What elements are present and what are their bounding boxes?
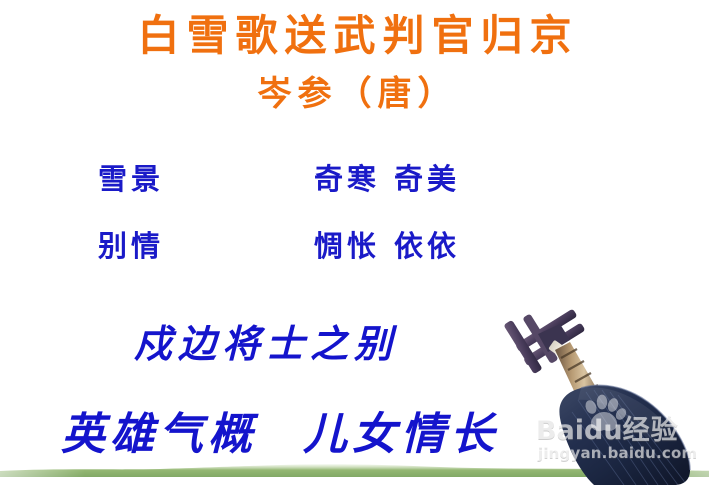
analysis-row-1-descriptor-first: 惆怅 — [314, 229, 380, 263]
watermark-brand-cn: 经验 — [623, 415, 679, 446]
pipa-head-plate — [538, 324, 570, 352]
pipa-strings — [572, 387, 687, 485]
analysis-row-0-topic: 雪景 — [94, 158, 164, 200]
analysis-row: 雪景 奇寒奇美 — [0, 158, 709, 200]
grass-band-decoration — [0, 461, 709, 477]
grass-shape — [0, 464, 709, 477]
watermark-brand-latin: Baidu — [536, 415, 623, 446]
baidu-watermark: Baidu经验 jingyan.baidu.com — [536, 408, 709, 468]
analysis-row-0-descriptors: 奇寒奇美 — [310, 158, 460, 200]
emphasis-pair-right: 儿女情长 — [303, 409, 499, 460]
grass-edge-fade — [0, 461, 709, 477]
slide-subtitle-author: 岑参（唐） — [0, 76, 709, 113]
analysis-row-0-descriptor-first: 奇寒 — [314, 162, 380, 196]
emphasis-line-pair: 英雄气概儿女情长 — [56, 398, 499, 462]
paw-print-icon — [582, 394, 628, 434]
analysis-row-1-topic: 别情 — [94, 225, 164, 267]
pipa-neck — [555, 342, 602, 408]
pipa-body — [559, 385, 690, 485]
pipa-nut — [548, 340, 570, 360]
emphasis-pair-left: 英雄气概 — [61, 409, 257, 460]
slide-title: 白雪歌送武判官归京 — [0, 14, 709, 58]
pipa-frets — [561, 349, 598, 394]
analysis-row-0-descriptor-second: 奇美 — [394, 162, 460, 196]
watermark-brand: Baidu经验 — [536, 408, 679, 447]
presentation-slide: 白雪歌送武判官归京 岑参（唐） 雪景 奇寒奇美 别情 惆怅依依 戍边将士之别 英… — [0, 0, 709, 485]
watermark-url: jingyan.baidu.com — [538, 444, 697, 462]
pipa-body-highlight — [581, 385, 690, 470]
analysis-row: 别情 惆怅依依 — [0, 225, 709, 267]
pipa-tuning-pegs — [503, 309, 585, 375]
pipa-neck-joint — [580, 388, 610, 414]
analysis-row-1-descriptor-second: 依依 — [394, 229, 460, 263]
analysis-row-1-descriptors: 惆怅依依 — [310, 225, 460, 267]
emphasis-line-theme: 戍边将士之别 — [128, 313, 398, 368]
pipa-lute-image — [498, 300, 709, 485]
